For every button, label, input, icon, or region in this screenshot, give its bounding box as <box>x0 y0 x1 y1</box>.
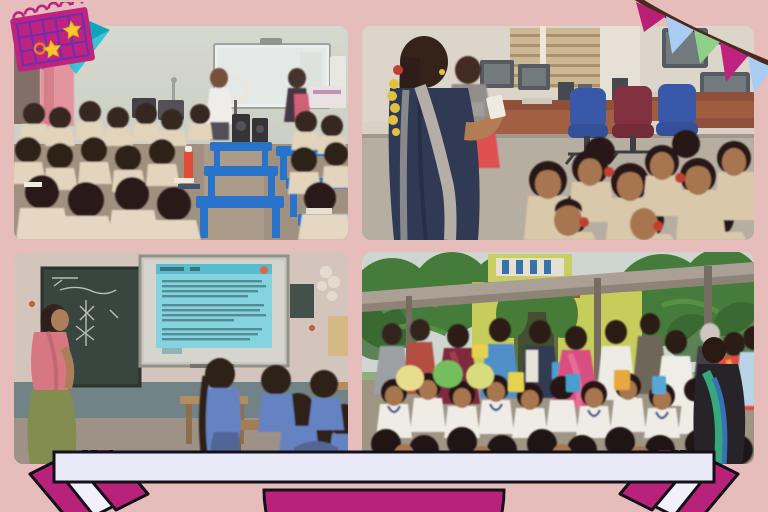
group-ceremony-image <box>362 252 754 464</box>
projector-lesson-image <box>14 252 348 464</box>
photo-projector-lesson[interactable] <box>14 252 348 464</box>
ribbon-base-shape <box>264 490 504 512</box>
bunting-flags <box>636 2 768 94</box>
photo-group-ceremony[interactable] <box>362 252 754 464</box>
bunting-decoration <box>608 0 768 100</box>
calendar-body <box>8 2 95 72</box>
calendar-sticker <box>2 2 120 82</box>
bunting-graphic <box>608 0 768 100</box>
banner-caption <box>120 466 648 492</box>
calendar-sticker-graphic <box>2 2 120 82</box>
poster-canvas <box>0 0 768 512</box>
